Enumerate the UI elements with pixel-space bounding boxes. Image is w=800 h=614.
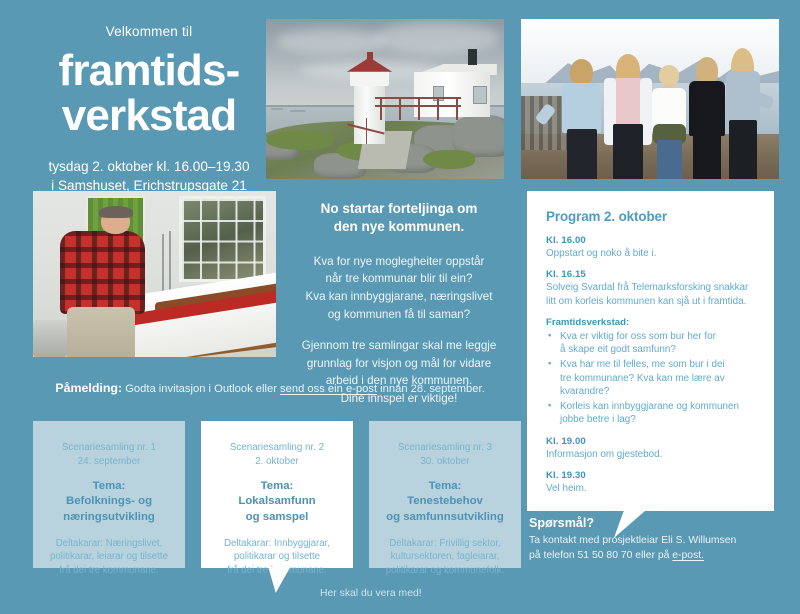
- scenario-theme-line: Tenestebehov: [381, 494, 509, 509]
- group-photo: [521, 19, 779, 179]
- grass: [266, 131, 333, 150]
- questions-line-2: på telefon 51 50 80 70 eller på e-post.: [529, 549, 789, 564]
- scenario-meta: Scenariesamling nr. 1 24. september: [45, 441, 173, 468]
- intro-heading-line-2: den nye kommunen.: [288, 218, 510, 236]
- registration-line: Påmelding: Godta invitasjon i Outlook el…: [30, 381, 510, 395]
- questions-line-1: Ta kontakt med prosjektleiar Eli S. Will…: [529, 534, 789, 549]
- program-title: Program 2. oktober: [546, 209, 757, 224]
- torso: [689, 81, 725, 137]
- scenario-meta: Scenariesamling nr. 3 30. oktober: [381, 441, 509, 468]
- house-window: [473, 86, 487, 104]
- torso: [562, 83, 601, 133]
- program-item-desc-line: litt om korleis kommunen kan sjå ut i fr…: [546, 295, 757, 308]
- program-item-desc-line: Informasjon om gjestebod.: [546, 448, 757, 461]
- legs: [657, 140, 682, 179]
- page-title: framtids- verkstad: [38, 49, 260, 139]
- boat-photo-content: [33, 191, 276, 357]
- railing-post: [437, 97, 439, 119]
- questions-email-link[interactable]: e-post.: [672, 550, 704, 561]
- bullet-line: kvarandre?: [560, 385, 725, 398]
- program-item-time: Kl. 16.15: [546, 269, 757, 280]
- scenario-theme: Tema: Tenestebehov og samfunnsutvikling: [381, 479, 509, 525]
- program-item-desc-line: Oppstart og noko å bite i.: [546, 247, 757, 260]
- lighthouse-photo-content: [266, 19, 504, 179]
- scenario-theme-label: Tema:: [45, 479, 173, 494]
- scenario-participants: Deltakarar: Næringslivet, politikarar, l…: [45, 537, 173, 577]
- scenario-participants: Deltakarar: Frivillig sektor, kultursekt…: [381, 537, 509, 577]
- participants-line: politikarar og tilsette: [213, 550, 341, 563]
- program-bubble: Program 2. oktober Kl. 16.00 Oppstart og…: [527, 191, 774, 511]
- intro-paragraph-1: Kva for nye moglegheiter oppstår når tre…: [288, 253, 510, 323]
- workshop-block: Framtidsverkstad: ▪ Kva er viktig for os…: [546, 317, 757, 427]
- program-item: Kl. 16.15 Solveig Svardal frå Telemarksf…: [546, 269, 757, 308]
- scenario-theme: Tema: Befolknings- og næringsutvikling: [45, 479, 173, 525]
- bullet-line: Kva er viktig for oss som bur her for: [560, 330, 716, 343]
- title-line-2: verkstad: [38, 94, 260, 139]
- house-chimney: [468, 49, 476, 65]
- intro-p2-line-2: grunnlag for visjon og mål for vidare: [288, 355, 510, 373]
- man-trousers: [67, 307, 135, 357]
- event-meta: tysdag 2. oktober kl. 16.00–19.30 i Sams…: [38, 157, 260, 196]
- intro-heading-line-1: No startar forteljinga om: [288, 200, 510, 218]
- program-item-desc: Informasjon om gjestebod.: [546, 448, 757, 461]
- participants-line: kultursektoren, fagleiarar,: [381, 550, 509, 563]
- scenario-card-3: Scenariesamling nr. 3 30. oktober Tema: …: [369, 421, 521, 568]
- person: [650, 64, 689, 179]
- intro-paragraph-2: Gjennom tre samlingar skal me leggje gru…: [288, 337, 510, 407]
- intro-p1-line-2: når tre kommunar blir til ein?: [288, 270, 510, 288]
- cloud: [276, 29, 385, 55]
- railing-post: [380, 97, 382, 119]
- registration-text-before: Godta invitasjon i Outlook eller: [122, 383, 280, 395]
- scenario-card-2: Scenariesamling nr. 2 2. oktober Tema: L…: [201, 421, 353, 568]
- legs: [613, 124, 643, 179]
- legs: [693, 133, 721, 179]
- scenario-number: Scenariesamling nr. 3: [381, 441, 509, 455]
- hair: [659, 65, 679, 85]
- torso: [726, 71, 761, 123]
- railing-post: [418, 97, 420, 119]
- bullet-line: Korleis kan innbyggjarane og kommunen: [560, 400, 739, 413]
- person: [560, 61, 604, 179]
- scenario-meta: Scenariesamling nr. 2 2. oktober: [213, 441, 341, 468]
- workshop-bullet: ▪ Korleis kan innbyggjarane og kommunen …: [546, 400, 757, 427]
- bullet-line: å skape eit godt samfunn?: [560, 343, 716, 356]
- welcome-line: Velkommen til: [38, 24, 260, 39]
- program-item: Kl. 16.00 Oppstart og noko å bite i.: [546, 235, 757, 260]
- program-item-desc: Vel heim.: [546, 482, 757, 495]
- registration-text-after: innan 28. september.: [377, 383, 485, 395]
- bullet-line: Kva har me til felles, me som bur i dei: [560, 358, 725, 371]
- scenario-date: 2. oktober: [213, 455, 341, 469]
- workshop-bullet-text: Kva er viktig for oss som bur her for å …: [560, 330, 716, 357]
- man-plaid-shirt: [60, 231, 145, 314]
- scenario-theme-line: Befolknings- og: [45, 494, 173, 509]
- bullet-icon: ▪: [546, 330, 560, 343]
- scenario-theme-line: Lokalsamfunn: [213, 494, 341, 509]
- header-block: Velkommen til framtids- verkstad tysdag …: [38, 24, 260, 195]
- group-photo-content: [521, 19, 779, 179]
- questions-line-2-prefix: på telefon 51 50 80 70 eller på: [529, 550, 672, 561]
- participants-line: politikarar og kommunefolk.: [381, 564, 509, 577]
- pole: [169, 231, 171, 294]
- lighthouse-vent: [367, 52, 373, 60]
- man-hair: [99, 206, 133, 218]
- intro-p1-line-4: og kommunen få til saman?: [288, 306, 510, 324]
- pole: [162, 234, 164, 294]
- program-item: Kl. 19.30 Vel heim.: [546, 470, 757, 495]
- workshop-label: Framtidsverkstad:: [546, 317, 757, 328]
- workshop-bullet: ▪ Kva har me til felles, me som bur i de…: [546, 358, 757, 398]
- bullet-line: jobbe betre i lag?: [560, 413, 739, 426]
- legs: [729, 120, 757, 179]
- title-line-1: framtids-: [38, 49, 260, 94]
- scenario-theme-line: og samfunnsutvikling: [381, 510, 509, 525]
- registration-email-link[interactable]: send oss ein e-post: [280, 383, 377, 395]
- program-item-desc: Oppstart og noko å bite i.: [546, 247, 757, 260]
- registration-label: Påmelding:: [55, 381, 122, 395]
- person: [686, 57, 727, 179]
- intro-p2-line-1: Gjennom tre samlingar skal me leggje: [288, 337, 510, 355]
- scenario-date: 30. oktober: [381, 455, 509, 469]
- program-item-time: Kl. 19.00: [546, 436, 757, 447]
- bottom-caption: Her skal du vera med!: [320, 588, 422, 599]
- scenario-number: Scenariesamling nr. 2: [213, 441, 341, 455]
- bullet-line: tre kommunane? Kva kan me lære av: [560, 372, 725, 385]
- program-item-desc-line: Vel heim.: [546, 482, 757, 495]
- scenario-theme-line: og samspel: [213, 510, 341, 525]
- program-item: Kl. 19.00 Informasjon om gjestebod.: [546, 436, 757, 461]
- railing-post: [399, 97, 401, 119]
- scenario-theme-label: Tema:: [213, 479, 341, 494]
- questions-body: Ta kontakt med prosjektleiar Eli S. Will…: [529, 534, 789, 564]
- bullet-icon: ▪: [546, 400, 560, 413]
- window-panes: [182, 199, 263, 279]
- lighthouse-photo: [266, 19, 504, 179]
- boat-builder-photo: [33, 191, 276, 357]
- participants-line: Deltakarar: Næringslivet,: [45, 537, 173, 550]
- participants-line: frå dei tre kommunane.: [45, 564, 173, 577]
- scenario-theme-label: Tema:: [381, 479, 509, 494]
- workshop-clutter: [33, 320, 67, 357]
- workshop-bullet: ▪ Kva er viktig for oss som bur her for …: [546, 330, 757, 357]
- person: [722, 48, 763, 179]
- program-item-time: Kl. 19.30: [546, 470, 757, 481]
- railing-post: [366, 118, 368, 144]
- legs: [567, 129, 597, 179]
- scenario-theme-line: næringsutvikling: [45, 510, 173, 525]
- window: [179, 196, 266, 282]
- distant-boat: [271, 108, 283, 110]
- participants-line: politikarar, leiarar og tilsette: [45, 550, 173, 563]
- intro-p1-line-1: Kva for nye moglegheiter oppstår: [288, 253, 510, 271]
- railing-post: [456, 97, 458, 119]
- intro-heading: No startar forteljinga om den nye kommun…: [288, 200, 510, 237]
- scenario-card-1: Scenariesamling nr. 1 24. september Tema…: [33, 421, 185, 568]
- program-item-time: Kl. 16.00: [546, 235, 757, 246]
- workshop-bullet-text: Kva har me til felles, me som bur i dei …: [560, 358, 725, 398]
- scenario-theme: Tema: Lokalsamfunn og samspel: [213, 479, 341, 525]
- intro-p1-line-3: Kva kan innbyggjarane, næringslivet: [288, 288, 510, 306]
- scenario-date: 24. september: [45, 455, 173, 469]
- poster-root: Velkommen til framtids- verkstad tysdag …: [0, 0, 800, 614]
- questions-block: Spørsmål? Ta kontakt med prosjektleiar E…: [529, 516, 789, 564]
- questions-title: Spørsmål?: [529, 516, 789, 530]
- participants-line: Deltakarar: Frivillig sektor,: [381, 537, 509, 550]
- scenario-card-2-tail: [268, 567, 309, 593]
- distant-boat: [290, 110, 307, 112]
- scenario-number: Scenariesamling nr. 1: [45, 441, 173, 455]
- person: [606, 54, 650, 179]
- participants-line: Deltakarar: Innbyggjarar,: [213, 537, 341, 550]
- bullet-icon: ▪: [546, 358, 560, 371]
- program-item-desc: Solveig Svardal frå Telemarksforsking sn…: [546, 281, 757, 308]
- workshop-bullet-text: Korleis kan innbyggjarane og kommunen jo…: [560, 400, 739, 427]
- event-datetime: tysdag 2. oktober kl. 16.00–19.30: [38, 157, 260, 176]
- hair: [570, 59, 593, 85]
- program-item-desc-line: Solveig Svardal frå Telemarksforsking sn…: [546, 281, 757, 294]
